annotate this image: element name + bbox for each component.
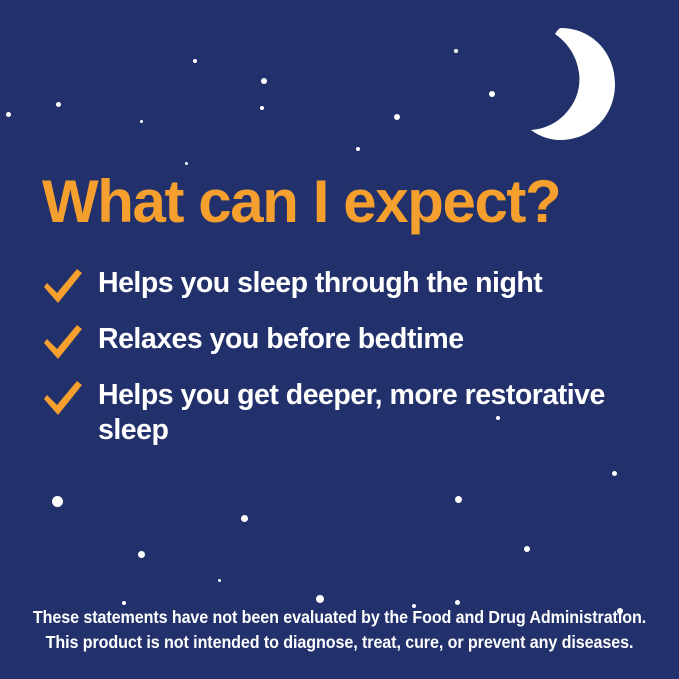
page-title: What can I expect? bbox=[42, 172, 560, 232]
star-dot bbox=[524, 546, 530, 552]
star-dot bbox=[316, 595, 324, 603]
list-item-label: Helps you get deeper, more restorative s… bbox=[98, 378, 643, 448]
star-dot bbox=[52, 496, 63, 507]
star-dot bbox=[241, 515, 248, 522]
star-dot bbox=[455, 496, 462, 503]
crescent-moon-icon bbox=[505, 26, 617, 142]
checkmark-icon bbox=[42, 380, 84, 418]
checkmark-icon bbox=[42, 324, 84, 362]
star-dot bbox=[185, 162, 188, 165]
star-dot bbox=[261, 78, 267, 84]
star-dot bbox=[455, 600, 460, 605]
list-item: Helps you sleep through the night bbox=[42, 266, 652, 306]
disclaimer-line-2: This product is not intended to diagnose… bbox=[27, 630, 652, 655]
star-dot bbox=[6, 112, 11, 117]
disclaimer-line-1: These statements have not been evaluated… bbox=[27, 605, 652, 630]
sleep-benefits-poster: What can I expect? Helps you sleep throu… bbox=[0, 0, 679, 679]
list-item: Helps you get deeper, more restorative s… bbox=[42, 378, 652, 448]
star-dot bbox=[138, 551, 145, 558]
star-dot bbox=[193, 59, 197, 63]
star-dot bbox=[140, 120, 143, 123]
star-dot bbox=[56, 102, 61, 107]
list-item: Relaxes you before bedtime bbox=[42, 322, 652, 362]
benefits-list: Helps you sleep through the night Relaxe… bbox=[42, 266, 652, 464]
checkmark-icon bbox=[42, 268, 84, 306]
star-dot bbox=[394, 114, 400, 120]
fda-disclaimer: These statements have not been evaluated… bbox=[27, 605, 652, 655]
star-dot bbox=[612, 471, 617, 476]
star-dot bbox=[489, 91, 495, 97]
star-dot bbox=[454, 49, 458, 53]
star-dot bbox=[356, 147, 360, 151]
list-item-label: Relaxes you before bedtime bbox=[98, 322, 464, 357]
star-dot bbox=[218, 579, 221, 582]
list-item-label: Helps you sleep through the night bbox=[98, 266, 542, 301]
star-dot bbox=[260, 106, 264, 110]
